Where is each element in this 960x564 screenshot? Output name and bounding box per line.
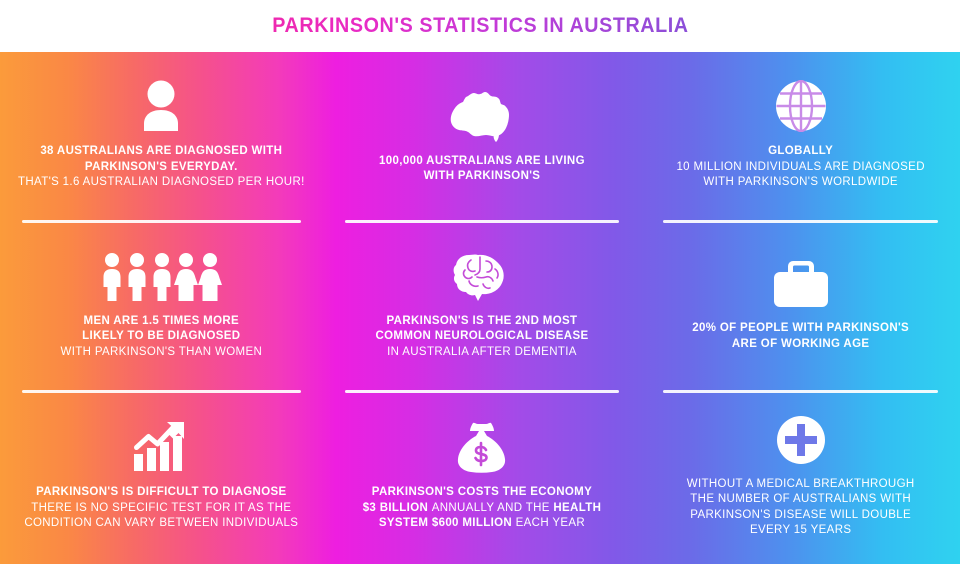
stat-line: 10 million individuals are diagnosed (676, 160, 924, 176)
stat-cell-will-double: Without a medical breakthrough the numbe… (641, 393, 960, 564)
stat-line-part: health (553, 502, 601, 514)
person-icon (137, 80, 185, 132)
stat-cell-working-age: 20% of people with Parkinson's are of wo… (641, 223, 960, 394)
stat-line-mixed: system $600 million each year (363, 516, 602, 532)
people-group-icon (100, 252, 222, 302)
stat-line: There is no specific test for it as the (24, 501, 298, 517)
stat-line: in Australia after dementia (375, 345, 588, 361)
stat-line: Parkinson's costs the economy (363, 485, 602, 501)
stat-line-part: $3 billion (363, 502, 432, 514)
medical-cross-icon (776, 415, 826, 465)
stat-line: Parkinson's disease will double (687, 508, 915, 524)
stat-line: 100,000 Australians are living (379, 154, 585, 170)
stat-text-group: Parkinson's is difficult to diagnose The… (24, 485, 298, 532)
stat-line: Without a medical breakthrough (687, 477, 915, 493)
stat-line: with Parkinson's (379, 169, 585, 185)
stat-line: every 15 years (687, 523, 915, 539)
stat-cell-difficult-to-diagnose: Parkinson's is difficult to diagnose The… (0, 393, 323, 564)
stat-text-group: Men are 1.5 times more likely to be diag… (61, 314, 263, 361)
stat-line: 20% of people with Parkinson's (692, 321, 909, 337)
stat-text-group: Without a medical breakthrough the numbe… (687, 477, 915, 539)
stat-text-group: Globally 10 million individuals are diag… (676, 144, 924, 191)
stat-line: Parkinson's is difficult to diagnose (24, 485, 298, 501)
stat-line: the number of Australians with (687, 492, 915, 508)
globe-icon (775, 80, 827, 132)
stat-line-part: each year (516, 517, 585, 529)
stat-text-group: 20% of people with Parkinson's are of wo… (692, 321, 909, 352)
header-bar: Parkinson's Statistics in Australia (0, 0, 960, 52)
stat-line: 38 Australians are diagnosed with (18, 144, 305, 160)
stat-line-mixed: $3 billion annually and the health (363, 501, 602, 517)
money-bag-icon (455, 421, 509, 473)
stat-cell-living-with-parkinsons: 100,000 Australians are living with Park… (323, 52, 642, 223)
stat-line-part: system $600 million (379, 517, 516, 529)
stat-cell-diagnosed-per-day: 38 Australians are diagnosed with Parkin… (0, 52, 323, 223)
stat-line: Parkinson's everyday. (18, 160, 305, 176)
stat-cell-global-diagnosed: Globally 10 million individuals are diag… (641, 52, 960, 223)
stat-text-group: Parkinson's costs the economy $3 billion… (363, 485, 602, 532)
stat-line: Globally (676, 144, 924, 160)
stat-cell-men-vs-women: Men are 1.5 times more likely to be diag… (0, 223, 323, 394)
stat-line: likely to be diagnosed (61, 329, 263, 345)
stat-text-group: Parkinson's is the 2nd most common neuro… (375, 314, 588, 361)
stat-line: Men are 1.5 times more (61, 314, 263, 330)
infographic-page: Parkinson's Statistics in Australia 38 A… (0, 0, 960, 564)
stat-cell-second-most-common: Parkinson's is the 2nd most common neuro… (323, 223, 642, 394)
stats-grid: 38 Australians are diagnosed with Parkin… (0, 52, 960, 564)
stat-line: condition can vary between individuals (24, 516, 298, 532)
briefcase-icon (770, 259, 832, 309)
australia-map-icon (449, 86, 515, 142)
stat-line: Parkinson's is the 2nd most (375, 314, 588, 330)
stat-text-group: 100,000 Australians are living with Park… (379, 154, 585, 185)
stat-line: with Parkinson's worldwide (676, 175, 924, 191)
stat-line: with Parkinson's than women (61, 345, 263, 361)
stat-line: That's 1.6 Australian diagnosed per hour… (18, 175, 305, 191)
page-title: Parkinson's Statistics in Australia (272, 14, 688, 38)
stat-line: are of working age (692, 337, 909, 353)
stat-line: common neurological disease (375, 329, 588, 345)
brain-icon (453, 252, 511, 302)
stat-cell-economic-cost: Parkinson's costs the economy $3 billion… (323, 393, 642, 564)
stat-text-group: 38 Australians are diagnosed with Parkin… (18, 144, 305, 191)
growth-chart-icon (132, 421, 190, 473)
stat-line-part: annually and the (432, 502, 554, 514)
